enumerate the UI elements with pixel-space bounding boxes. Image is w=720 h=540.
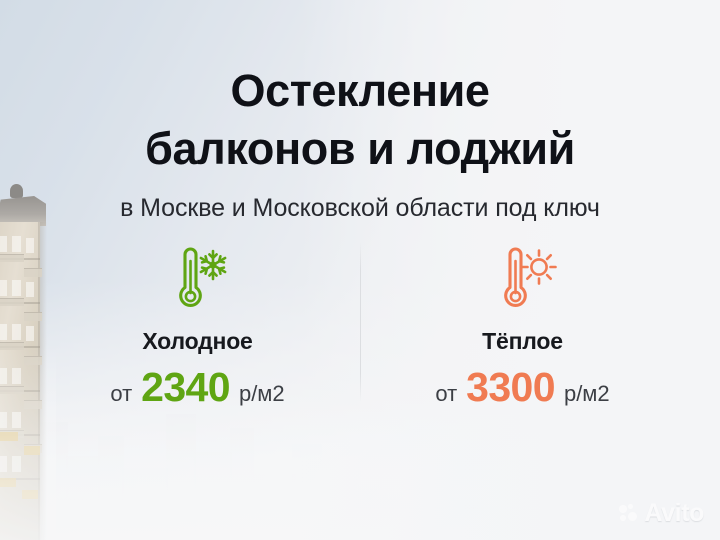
price-card-cold: Холодное от 2340 р/м2 <box>58 240 338 408</box>
price-cards: Холодное от 2340 р/м2 <box>0 240 720 408</box>
price-value-cold: 2340 <box>141 367 230 408</box>
price-prefix-cold: от <box>110 381 132 407</box>
card-label-cold: Холодное <box>142 328 252 355</box>
card-label-warm: Тёплое <box>482 328 563 355</box>
price-unit-warm: р/м2 <box>564 381 610 407</box>
price-warm: от 3300 р/м2 <box>435 367 609 408</box>
card-divider <box>360 242 361 402</box>
price-card-warm: Тёплое от 3300 р/м2 <box>383 240 663 408</box>
subtitle: в Москве и Московской области под ключ <box>0 192 720 224</box>
headline-line-2: балконов и лоджий <box>0 120 720 178</box>
thermometer-snowflake-icon <box>162 240 234 320</box>
content-layer: Остекление балконов и лоджий в Москве и … <box>0 0 720 540</box>
price-unit-cold: р/м2 <box>239 381 285 407</box>
price-prefix-warm: от <box>435 381 457 407</box>
price-value-warm: 3300 <box>466 367 555 408</box>
headline-line-1: Остекление <box>0 62 720 120</box>
avito-wordmark: Avito <box>644 499 704 528</box>
avito-dots-logo <box>619 504 639 524</box>
banner: Остекление балконов и лоджий в Москве и … <box>0 0 720 540</box>
page-title: Остекление балконов и лоджий <box>0 62 720 178</box>
thermometer-sun-icon <box>487 240 559 320</box>
price-cold: от 2340 р/м2 <box>110 367 284 408</box>
avito-watermark: Avito <box>619 499 704 528</box>
